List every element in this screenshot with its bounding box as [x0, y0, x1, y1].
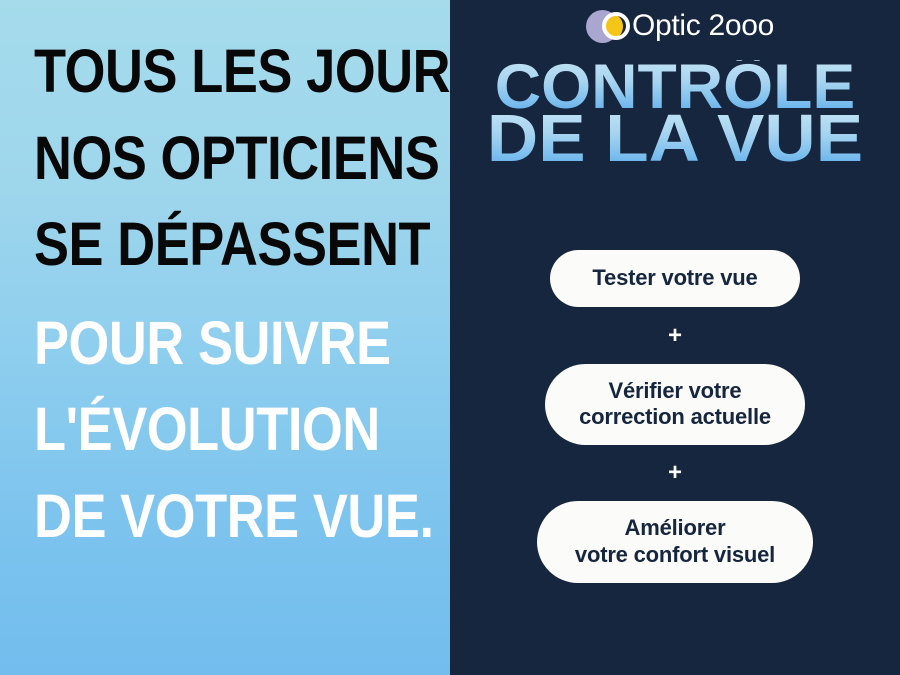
- logo-eye-icon: [586, 6, 638, 46]
- poster: TOUS LES JOURS NOS OPTICIENS SE DÉPASSEN…: [0, 0, 900, 675]
- headline-line-1: TOUS LES JOURS: [34, 42, 392, 101]
- steps-stack: Tester votre vue + Vérifier votre correc…: [450, 250, 900, 583]
- main-title: CONTRÔLE DE LA VUE: [450, 60, 900, 168]
- headline-line-4: POUR SUIVRE: [34, 314, 392, 373]
- separator-plus-2: +: [668, 461, 682, 485]
- headline-line-3: SE DÉPASSENT: [34, 215, 392, 274]
- step-pill-verifier-correction[interactable]: Vérifier votre correction actuelle: [545, 364, 805, 446]
- left-panel: TOUS LES JOURS NOS OPTICIENS SE DÉPASSEN…: [0, 0, 450, 675]
- separator-plus-1: +: [668, 324, 682, 348]
- logo-o-ring-shape: [602, 12, 630, 40]
- headline-line-5: L'ÉVOLUTION: [34, 400, 392, 459]
- main-title-line-2: DE LA VUE: [437, 110, 900, 168]
- step-pill-label-line-1: Améliorer: [575, 515, 775, 542]
- optic-2000-logo: Optic 2ooo: [586, 5, 774, 47]
- step-pill-tester-votre-vue[interactable]: Tester votre vue: [550, 250, 799, 307]
- step-pill-label-line-1: Vérifier votre: [579, 378, 771, 405]
- step-pill-label-line-2: correction actuelle: [579, 404, 771, 431]
- step-pill-ameliorer-confort[interactable]: Améliorer votre confort visuel: [537, 501, 813, 583]
- right-panel: Optic 2ooo CONTRÔLE DE LA VUE Tester vot…: [450, 0, 900, 675]
- step-pill-label-line-2: votre confort visuel: [575, 542, 775, 569]
- left-headline-block: TOUS LES JOURS NOS OPTICIENS SE DÉPASSEN…: [34, 42, 450, 573]
- step-pill-label: Tester votre vue: [592, 265, 757, 290]
- headline-line-6: DE VOTRE VUE.: [34, 487, 392, 546]
- headline-line-2: NOS OPTICIENS: [34, 129, 392, 188]
- logo-text: Optic 2ooo: [632, 11, 774, 41]
